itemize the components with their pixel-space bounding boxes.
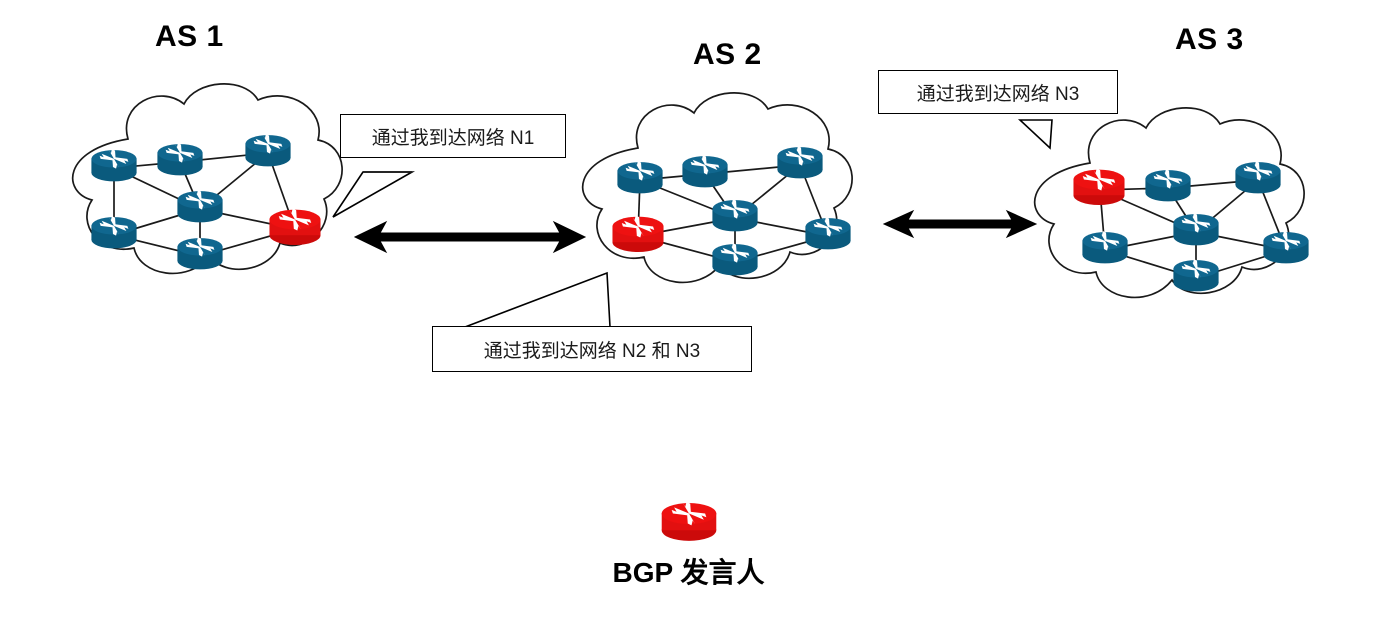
callout-tail-n3 (1020, 120, 1052, 148)
router-icon[interactable] (177, 190, 222, 222)
router-icon[interactable] (1263, 231, 1308, 263)
router-icon[interactable] (245, 134, 290, 166)
as3-title: AS 3 (1175, 23, 1244, 57)
as1-cloud-outline (73, 84, 342, 274)
as1-cloud-group (73, 84, 342, 274)
bgp-speaker-router-icon[interactable] (269, 209, 320, 246)
as2-title: AS 2 (693, 38, 762, 72)
router-icon[interactable] (91, 216, 136, 248)
legend-label: BGP 发言人 (0, 551, 1377, 591)
as3-cloud-group (1035, 108, 1309, 298)
legend: BGP 发言人 (0, 498, 1377, 591)
callout-tail-n2n3 (465, 273, 610, 327)
as1-links (114, 153, 295, 256)
as3-links (1100, 180, 1286, 278)
bgp-speaker-router-icon (658, 498, 720, 544)
as2-links (638, 165, 828, 262)
as2-cloud-outline (583, 93, 852, 283)
router-icon[interactable] (712, 243, 757, 275)
router-icon[interactable] (712, 199, 757, 231)
router-icon[interactable] (777, 146, 822, 178)
router-icon[interactable] (617, 161, 662, 193)
peer-link-as1-as2[interactable] (355, 222, 585, 252)
router-icon[interactable] (805, 217, 850, 249)
bgp-speaker-router-icon[interactable] (612, 216, 663, 253)
as1-title: AS 1 (155, 20, 224, 54)
peer-link-as2-as3[interactable] (884, 211, 1036, 237)
callout-box-n1: 通过我到达网络 N1 (340, 114, 566, 158)
router-icon[interactable] (1235, 161, 1280, 193)
router-icon[interactable] (1145, 169, 1190, 201)
as2-cloud-group (583, 93, 852, 283)
bgp-speaker-router-icon[interactable] (1073, 169, 1124, 206)
router-icon[interactable] (1082, 231, 1127, 263)
as3-cloud-outline (1035, 108, 1304, 298)
router-icon[interactable] (1173, 259, 1218, 291)
bgp-as-topology-diagram: AS 1 AS 2 AS 3 通过我到达网络 N1 通过我到达网络 N2 和 N… (0, 0, 1377, 640)
callout-tail-n1 (333, 172, 412, 217)
router-icon[interactable] (91, 149, 136, 181)
router-icon[interactable] (1173, 213, 1218, 245)
router-icon[interactable] (177, 237, 222, 269)
router-icon[interactable] (682, 155, 727, 187)
router-icon[interactable] (157, 143, 202, 175)
callout-box-n2-n3: 通过我到达网络 N2 和 N3 (432, 326, 752, 372)
callout-box-n3: 通过我到达网络 N3 (878, 70, 1118, 114)
